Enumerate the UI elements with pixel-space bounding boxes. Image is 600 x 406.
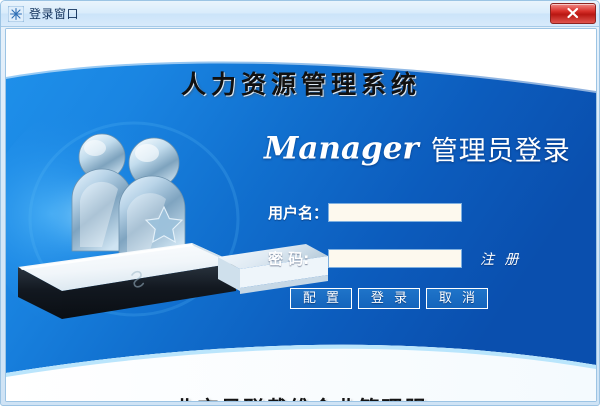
- register-link[interactable]: 注 册: [480, 249, 521, 269]
- company-footer: 北京易联戴维企业管理服: [6, 393, 596, 401]
- login-window: 登录窗口: [0, 0, 600, 406]
- cancel-button[interactable]: 取 消: [426, 288, 488, 309]
- close-button[interactable]: [550, 3, 596, 24]
- username-input[interactable]: [328, 203, 462, 222]
- login-stage: 人力资源管理系统 Manager管理员登录 用户名： 密 码:注 册 配 置登 …: [6, 29, 596, 401]
- client-area: 人力资源管理系统 Manager管理员登录 用户名： 密 码:注 册 配 置登 …: [5, 28, 597, 402]
- page-title: 人力资源管理系统: [6, 65, 596, 101]
- title-bar: 登录窗口: [1, 1, 600, 27]
- close-icon: [566, 7, 580, 19]
- snowflake-icon: [8, 6, 24, 22]
- password-label: 密 码:: [268, 248, 326, 269]
- username-row: 用户名：: [268, 202, 462, 224]
- brand-name-cn: 管理员登录: [431, 136, 571, 167]
- login-button[interactable]: 登 录: [358, 288, 420, 309]
- window-title: 登录窗口: [29, 5, 79, 22]
- username-label: 用户名：: [268, 202, 326, 223]
- config-button[interactable]: 配 置: [290, 288, 352, 309]
- password-input[interactable]: [328, 249, 462, 268]
- brand-name-en: Manager: [264, 131, 419, 167]
- form-button-row: 配 置登 录取 消: [290, 288, 510, 310]
- password-row: 密 码:注 册: [268, 248, 521, 270]
- brand-heading: Manager管理员登录: [264, 129, 584, 171]
